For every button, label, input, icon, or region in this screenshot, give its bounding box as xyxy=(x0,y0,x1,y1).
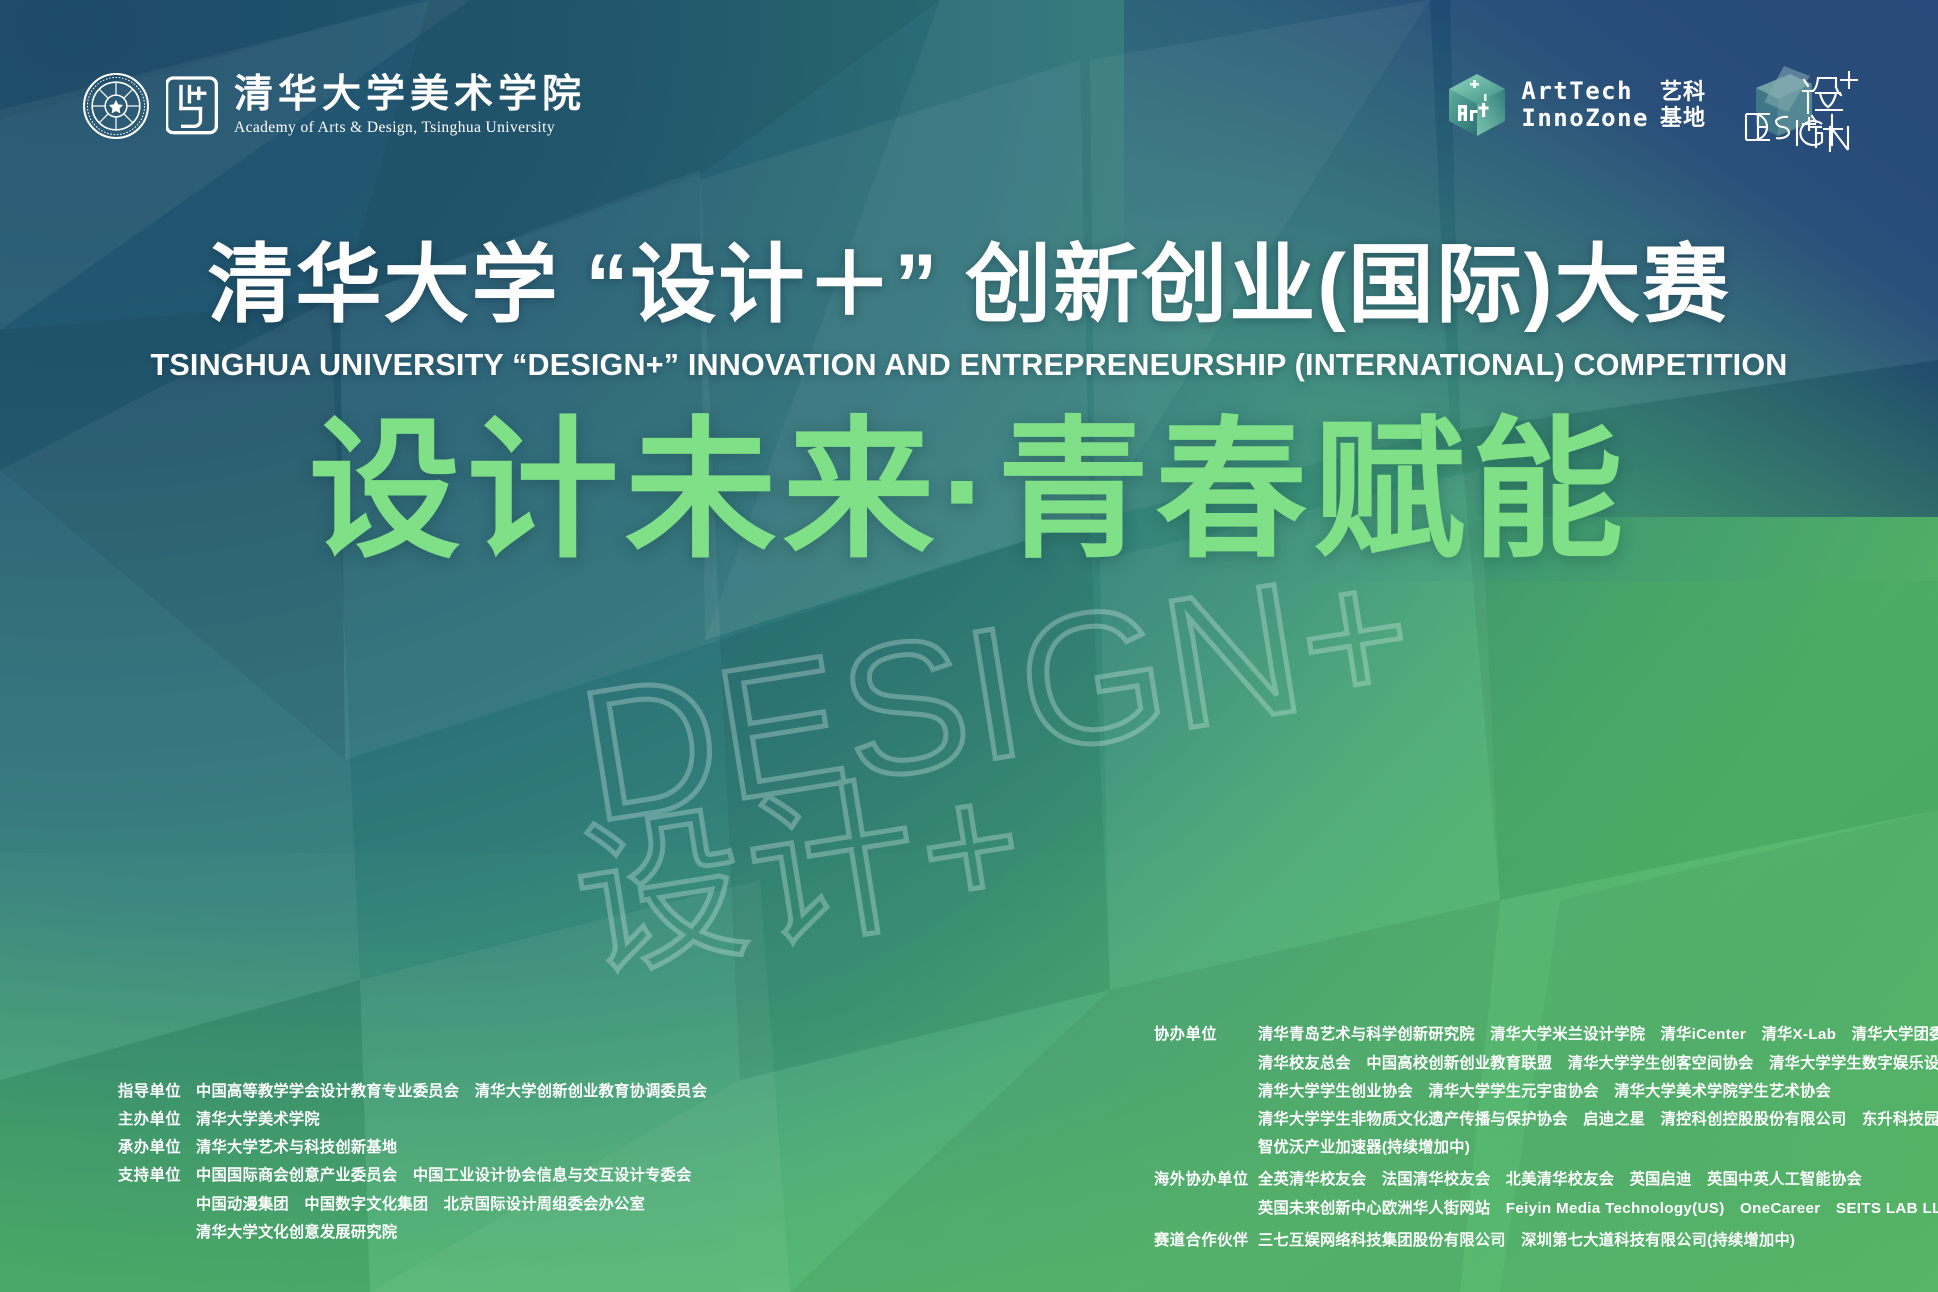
page-title-cn: 清华大学 “设计＋” 创新创业(国际)大赛 xyxy=(0,236,1938,334)
tsinghua-name-en: Academy of Arts & Design, Tsinghua Unive… xyxy=(234,119,586,137)
tsinghua-name-cn: 清华大学美术学院 xyxy=(234,75,586,116)
poster-canvas: DESIGN+ 设计+ xyxy=(0,0,1938,1292)
credit-line: 清华大学艺术与科技创新基地 xyxy=(196,1140,707,1155)
credit-line: 中国动漫集团 中国数字文化集团 北京国际设计周组委会办公室 xyxy=(196,1197,707,1212)
tsinghua-logo-wordmark: 清华大学美术学院 Academy of Arts & Design, Tsing… xyxy=(234,75,586,137)
arttech-cn-line2: 基地 xyxy=(1660,105,1706,131)
credit-row: 支持单位中国国际商会创意产业委员会 中国工业设计协会信息与交互设计专委会中国动漫… xyxy=(118,1168,707,1240)
credit-line: 中国高等教学学会设计教育专业委员会 清华大学创新创业教育协调委员会 xyxy=(196,1084,707,1099)
slogan-text: 设计未来·青春赋能 xyxy=(0,411,1938,572)
credit-label: 指导单位 xyxy=(118,1084,196,1099)
headline-block: 清华大学 “设计＋” 创新创业(国际)大赛 TSINGHUA UNIVERSIT… xyxy=(0,236,1938,572)
credit-line: 中国国际商会创意产业委员会 中国工业设计协会信息与交互设计专委会 xyxy=(196,1168,707,1183)
credit-line: 清华大学文化创意发展研究院 xyxy=(196,1225,707,1240)
arttech-cube-icon xyxy=(1446,72,1508,138)
credit-body: 中国国际商会创意产业委员会 中国工业设计协会信息与交互设计专委会中国动漫集团 中… xyxy=(196,1168,707,1240)
credit-body: 清华青岛艺术与科学创新研究院 清华大学米兰设计学院 清华iCenter 清华X-… xyxy=(1258,1027,1938,1155)
credit-line: 清华青岛艺术与科学创新研究院 清华大学米兰设计学院 清华iCenter 清华X-… xyxy=(1258,1027,1938,1042)
credit-line: 清华校友总会 中国高校创新创业教育联盟 清华大学学生创客空间协会 清华大学学生数… xyxy=(1258,1056,1938,1071)
credit-label: 承办单位 xyxy=(118,1140,196,1155)
arttech-line1: ArtTech xyxy=(1521,78,1649,105)
credit-row: 承办单位清华大学艺术与科技创新基地 xyxy=(118,1140,707,1155)
credit-line: 清华大学学生创业协会 清华大学学生元宇宙协会 清华大学美术学院学生艺术协会 xyxy=(1258,1084,1938,1099)
credit-line: 清华大学学生非物质文化遗产传播与保护协会 启迪之星 清控科创控股股份有限公司 东… xyxy=(1258,1112,1938,1127)
credit-line: 英国未来创新中心欧洲华人街网站 Feiyin Media Technology(… xyxy=(1258,1201,1938,1216)
credit-line: 三七互娱网络科技集团股份有限公司 深圳第七大道科技有限公司(持续增加中) xyxy=(1258,1233,1898,1248)
page-title-en: TSINGHUA UNIVERSITY “DESIGN+” INNOVATION… xyxy=(0,348,1938,383)
credit-label: 协办单位 xyxy=(1154,1027,1258,1042)
arttech-cn-line1: 艺科 xyxy=(1660,79,1706,105)
partner-logos: ArtTech InnoZone 艺科 基地 xyxy=(1446,58,1864,152)
tsinghua-seal-icon xyxy=(82,72,150,140)
credit-row: 协办单位清华青岛艺术与科学创新研究院 清华大学米兰设计学院 清华iCenter … xyxy=(1154,1027,1898,1155)
tsinghua-logo: 清华大学美术学院 Academy of Arts & Design, Tsing… xyxy=(82,72,586,140)
arttech-wordmark: ArtTech InnoZone 艺科 基地 xyxy=(1521,78,1706,132)
credit-body: 全英清华校友会 法国清华校友会 北美清华校友会 英国启迪 英国中英人工智能协会英… xyxy=(1258,1172,1938,1215)
credit-row: 主办单位清华大学美术学院 xyxy=(118,1112,707,1127)
credit-row: 海外协办单位全英清华校友会 法国清华校友会 北美清华校友会 英国启迪 英国中英人… xyxy=(1154,1172,1898,1215)
credit-line: 智优沃产业加速器(持续增加中) xyxy=(1258,1140,1938,1155)
design-plus-cube-icon xyxy=(1740,58,1864,152)
credit-body: 三七互娱网络科技集团股份有限公司 深圳第七大道科技有限公司(持续增加中) xyxy=(1258,1233,1898,1248)
credit-body: 清华大学艺术与科技创新基地 xyxy=(196,1140,707,1155)
credit-body: 清华大学美术学院 xyxy=(196,1112,707,1127)
credits-left: 指导单位中国高等教学学会设计教育专业委员会 清华大学创新创业教育协调委员会主办单… xyxy=(118,1084,707,1240)
arttech-line2: InnoZone xyxy=(1521,105,1649,132)
credit-label: 主办单位 xyxy=(118,1112,196,1127)
design-plus-logo xyxy=(1740,58,1864,152)
credit-label: 海外协办单位 xyxy=(1154,1172,1258,1187)
credit-body: 中国高等教学学会设计教育专业委员会 清华大学创新创业教育协调委员会 xyxy=(196,1084,707,1099)
credits-right: 协办单位清华青岛艺术与科学创新研究院 清华大学米兰设计学院 清华iCenter … xyxy=(1154,1027,1898,1248)
credit-line: 清华大学美术学院 xyxy=(196,1112,707,1127)
credit-row: 赛道合作伙伴三七互娱网络科技集团股份有限公司 深圳第七大道科技有限公司(持续增加… xyxy=(1154,1233,1898,1248)
arttech-innozone-logo: ArtTech InnoZone 艺科 基地 xyxy=(1446,72,1706,138)
tsinghua-monogram-icon xyxy=(166,73,218,139)
credit-line: 全英清华校友会 法国清华校友会 北美清华校友会 英国启迪 英国中英人工智能协会 xyxy=(1258,1172,1938,1187)
credit-label: 支持单位 xyxy=(118,1168,196,1183)
credit-row: 指导单位中国高等教学学会设计教育专业委员会 清华大学创新创业教育协调委员会 xyxy=(118,1084,707,1099)
credit-label: 赛道合作伙伴 xyxy=(1154,1233,1258,1248)
